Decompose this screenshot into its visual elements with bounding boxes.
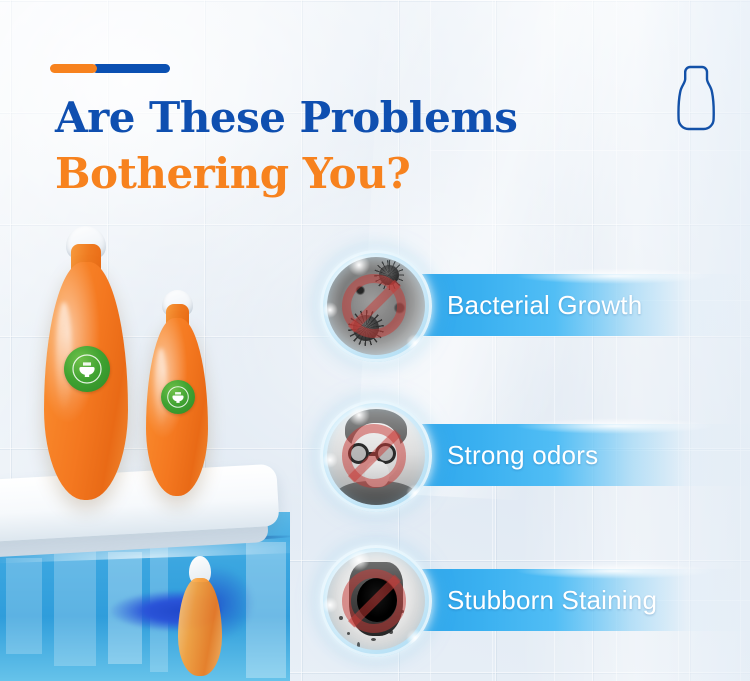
problem-bubble-strong-odors <box>320 400 432 512</box>
accent-bar <box>50 64 170 73</box>
problem-label-pill: Bacterial Growth <box>395 274 750 336</box>
person-pinching-nose-icon <box>327 407 425 505</box>
pill-shine <box>515 563 715 579</box>
germs-icon <box>327 257 425 355</box>
hand <box>365 461 389 487</box>
problem-row-stubborn-staining: Stubborn Staining <box>300 525 750 675</box>
problem-bubble-bacterial-growth <box>320 250 432 362</box>
small-bottle <box>146 318 208 496</box>
problem-row-bacterial-growth: Bacterial Growth <box>300 230 750 380</box>
pill-shine <box>515 418 715 434</box>
submerged-bottle <box>178 556 222 676</box>
bottle-outline-icon <box>672 62 716 132</box>
problem-bubble-stubborn-staining <box>320 545 432 657</box>
problem-label-pill: Strong odors <box>395 424 750 486</box>
stained-toilet-bowl-icon <box>327 552 425 650</box>
promo-banner: Are These Problems Bothering You? <box>0 0 750 681</box>
large-bottle <box>44 262 128 500</box>
toilet-seal-icon <box>161 380 195 414</box>
accent-bar-blue-segment <box>92 64 170 73</box>
problem-label-text: Stubborn Staining <box>395 585 657 616</box>
headline-line-1: Are These Problems <box>55 90 615 146</box>
problem-label-text: Bacterial Growth <box>395 290 642 321</box>
glasses-lens-left <box>348 443 369 464</box>
problem-label-pill: Stubborn Staining <box>395 569 750 631</box>
toilet-seal-icon <box>64 346 110 392</box>
germ-particle <box>379 265 399 285</box>
problem-row-strong-odors: Strong odors <box>300 380 750 530</box>
pill-shine <box>515 268 715 284</box>
accent-bar-orange-segment <box>50 64 97 73</box>
germ-particle <box>353 315 379 341</box>
headline-line-2: Bothering You? <box>55 146 615 202</box>
page-title: Are These Problems Bothering You? <box>55 90 615 202</box>
